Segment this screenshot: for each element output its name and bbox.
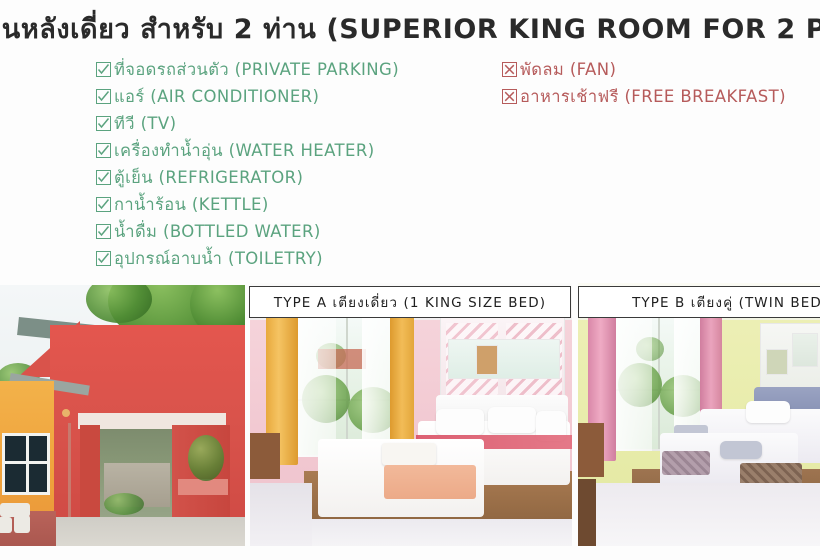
bedroom-a-scene — [250, 283, 572, 546]
photo-type-b — [578, 283, 820, 546]
amenities-section: ที่จอดรถส่วนตัว (PRIVATE PARKING) แอร์ (… — [0, 56, 820, 276]
bed-throw — [384, 465, 476, 499]
wall-lamp — [62, 409, 70, 417]
checkbox-checked-icon — [96, 197, 111, 212]
pillow — [488, 407, 536, 433]
amenity-label: กาน้ำร้อน (KETTLE) — [114, 191, 269, 218]
bench — [178, 479, 228, 495]
amenity-label: เครื่องทำน้ำอุ่น (WATER HEATER) — [114, 137, 375, 164]
garden-plant — [104, 493, 144, 515]
floor-reflection — [250, 483, 312, 546]
pillow — [436, 409, 484, 435]
pillow — [746, 401, 790, 423]
caption-box-type-a: TYPE A เตียงเดี่ยว (1 KING SIZE BED) — [249, 286, 571, 318]
amenity-label: แอร์ (AIR CONDITIONER) — [114, 83, 319, 110]
checkbox-checked-icon — [96, 224, 111, 239]
sheer-curtain — [612, 305, 652, 451]
exterior-scene — [0, 285, 245, 546]
amenity-item: แอร์ (AIR CONDITIONER) — [96, 83, 486, 110]
photo-strip — [0, 283, 820, 546]
checkbox-crossed-icon — [502, 89, 517, 104]
caption-box-type-b: TYPE B เตียงคู่ (TWIN BED — [578, 286, 820, 318]
garden-plant — [188, 435, 224, 481]
sheer-curtain — [294, 307, 336, 457]
side-furniture — [578, 479, 596, 546]
side-furniture — [250, 433, 280, 479]
bedroom-b-scene — [578, 283, 820, 546]
amenity-label: ตู้เย็น (REFRIGERATOR) — [114, 164, 303, 191]
caption-label-type-b: TYPE B เตียงคู่ (TWIN BED — [580, 291, 820, 313]
checkbox-crossed-icon — [502, 62, 517, 77]
amenity-label: ที่จอดรถส่วนตัว (PRIVATE PARKING) — [114, 56, 399, 83]
photo-type-a — [250, 283, 572, 546]
checkbox-checked-icon — [96, 116, 111, 131]
interior-window — [448, 339, 560, 379]
shelf-niche — [792, 333, 818, 367]
checkbox-checked-icon — [96, 89, 111, 104]
amenity-item: อาหารเช้าฟรี (FREE BREAKFAST) — [502, 83, 818, 110]
amenity-item: กาน้ำร้อน (KETTLE) — [96, 191, 486, 218]
amenity-item: ที่จอดรถส่วนตัว (PRIVATE PARKING) — [96, 56, 486, 83]
amenity-item: พัดลม (FAN) — [502, 56, 818, 83]
caption-label-type-a: TYPE A เตียงเดี่ยว (1 KING SIZE BED) — [274, 291, 546, 313]
amenity-label: น้ำดื่ม (BOTTLED WATER) — [114, 218, 321, 245]
bed-runner — [662, 451, 710, 475]
amenity-label: อุปกรณ์อาบน้ำ (TOILETRY) — [114, 245, 323, 272]
shelf-niche — [476, 345, 498, 375]
amenity-item: เครื่องทำน้ำอุ่น (WATER HEATER) — [96, 137, 486, 164]
exterior-window — [2, 433, 50, 495]
checkbox-checked-icon — [96, 62, 111, 77]
checkbox-checked-icon — [96, 143, 111, 158]
amenities-excluded-column: พัดลม (FAN) อาหารเช้าฟรี (FREE BREAKFAST… — [502, 56, 818, 110]
patio-stool — [14, 515, 30, 533]
photo-exterior — [0, 285, 245, 546]
checkbox-checked-icon — [96, 251, 111, 266]
amenity-item: ทีวี (TV) — [96, 110, 486, 137]
amenity-item: อุปกรณ์อาบน้ำ (TOILETRY) — [96, 245, 486, 272]
page-title-bar: านหลังเดี่ยว สำหรับ 2 ท่าน (SUPERIOR KIN… — [0, 8, 820, 54]
drain-pipe — [68, 423, 71, 531]
amenities-included-column: ที่จอดรถส่วนตัว (PRIVATE PARKING) แอร์ (… — [96, 56, 486, 272]
curtain-gold-right — [390, 297, 414, 455]
shelf-niche — [766, 349, 788, 375]
checkbox-checked-icon — [96, 170, 111, 185]
amenity-label: อาหารเช้าฟรี (FREE BREAKFAST) — [520, 83, 786, 110]
patio-stool — [0, 517, 12, 533]
floor — [578, 483, 820, 546]
towel-swan — [382, 443, 436, 465]
amenity-label: ทีวี (TV) — [114, 110, 176, 137]
side-furniture — [578, 423, 604, 477]
page-title: านหลังเดี่ยว สำหรับ 2 ท่าน (SUPERIOR KIN… — [0, 8, 820, 52]
folded-towel — [720, 441, 762, 459]
amenity-item: ตู้เย็น (REFRIGERATOR) — [96, 164, 486, 191]
amenity-item: น้ำดื่ม (BOTTLED WATER) — [96, 218, 486, 245]
amenity-label: พัดลม (FAN) — [520, 56, 616, 83]
